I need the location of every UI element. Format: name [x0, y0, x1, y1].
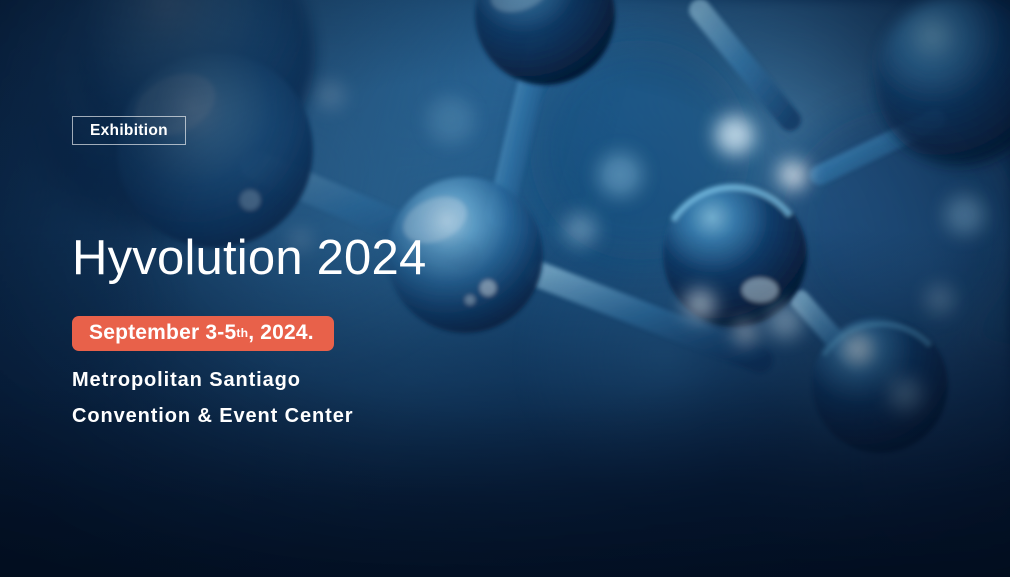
exhibition-label-badge: Exhibition: [72, 116, 186, 145]
event-title: Hyvolution 2024: [72, 232, 426, 285]
event-venue: Metropolitan Santiago Convention & Event…: [72, 362, 353, 434]
banner-content: Exhibition Hyvolution 2024 September 3-5…: [72, 0, 632, 577]
event-date-badge: September 3-5th, 2024.: [72, 316, 334, 351]
venue-line-2: Convention & Event Center: [72, 398, 353, 434]
venue-line-1: Metropolitan Santiago: [72, 362, 353, 398]
event-date-prefix: September 3-5: [89, 321, 236, 345]
event-date-suffix: , 2024.: [248, 321, 314, 345]
event-banner: Exhibition Hyvolution 2024 September 3-5…: [0, 0, 1010, 577]
